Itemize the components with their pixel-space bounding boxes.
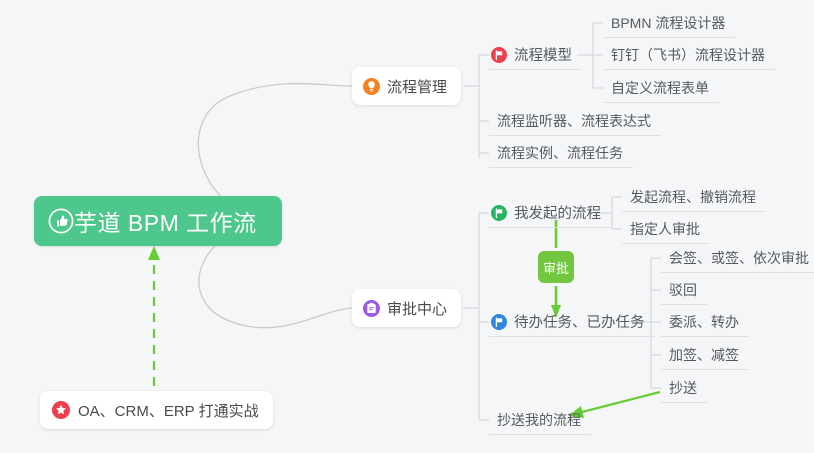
node-label: 待办任务、已办任务 bbox=[514, 311, 645, 332]
leaf-process-listener-expression[interactable]: 流程监听器、流程表达式 bbox=[489, 106, 661, 136]
leaf-dingtalk-feishu-designer[interactable]: 钉钉（飞书）流程设计器 bbox=[603, 40, 775, 70]
callout-label: OA、CRM、ERP 打通实战 bbox=[78, 400, 259, 421]
lightbulb-icon bbox=[363, 78, 380, 95]
leaf-label: 自定义流程表单 bbox=[611, 78, 709, 98]
leaf-label: 流程监听器、流程表达式 bbox=[497, 111, 651, 131]
leaf-assigned-approval[interactable]: 指定人审批 bbox=[622, 214, 710, 244]
branch-process-management[interactable]: 流程管理 bbox=[352, 67, 461, 105]
mindmap-canvas: 芋道 BPM 工作流 流程管理 流程模型 BPMN 流程设计器 钉钉（飞书）流程 bbox=[0, 0, 814, 453]
flag-icon bbox=[491, 205, 507, 221]
branch-approval-center[interactable]: 审批中心 bbox=[352, 289, 461, 327]
callout-integration-practice[interactable]: OA、CRM、ERP 打通实战 bbox=[40, 391, 273, 429]
approval-tag-label: 审批 bbox=[543, 258, 569, 277]
root-label: 芋道 BPM 工作流 bbox=[74, 204, 257, 238]
root-node[interactable]: 芋道 BPM 工作流 bbox=[34, 196, 282, 246]
leaf-label: BPMN 流程设计器 bbox=[611, 13, 725, 33]
leaf-label: 委派、转办 bbox=[669, 312, 739, 332]
leaf-label: 钉钉（飞书）流程设计器 bbox=[611, 45, 765, 65]
node-label: 流程模型 bbox=[514, 44, 572, 65]
thumbs-up-icon bbox=[48, 208, 74, 234]
leaf-add-remove-sign[interactable]: 加签、减签 bbox=[661, 340, 749, 370]
leaf-start-cancel-process[interactable]: 发起流程、撤销流程 bbox=[622, 182, 766, 212]
flag-icon bbox=[491, 314, 507, 330]
leaf-delegate-transfer[interactable]: 委派、转办 bbox=[661, 307, 749, 337]
node-todo-done-tasks[interactable]: 待办任务、已办任务 bbox=[489, 307, 655, 337]
star-badge-icon bbox=[52, 401, 70, 419]
leaf-label: 抄送 bbox=[669, 378, 697, 398]
approval-tag: 审批 bbox=[538, 251, 574, 283]
node-my-initiated-process[interactable]: 我发起的流程 bbox=[489, 198, 611, 228]
leaf-label: 驳回 bbox=[669, 280, 697, 300]
leaf-custom-process-form[interactable]: 自定义流程表单 bbox=[603, 73, 719, 103]
leaf-bpmn-designer[interactable]: BPMN 流程设计器 bbox=[603, 8, 735, 38]
branch-label: 审批中心 bbox=[387, 298, 447, 319]
leaf-label: 抄送我的流程 bbox=[497, 410, 581, 430]
leaf-label: 加签、减签 bbox=[669, 345, 739, 365]
leaf-label: 流程实例、流程任务 bbox=[497, 143, 623, 163]
leaf-label: 会签、或签、依次审批 bbox=[669, 248, 809, 268]
flag-icon bbox=[491, 47, 507, 63]
branch-label: 流程管理 bbox=[387, 76, 447, 97]
leaf-cc-to-me-process[interactable]: 抄送我的流程 bbox=[489, 405, 591, 435]
leaf-label: 发起流程、撤销流程 bbox=[630, 187, 756, 207]
leaf-cc[interactable]: 抄送 bbox=[661, 373, 707, 403]
leaf-reject[interactable]: 驳回 bbox=[661, 275, 707, 305]
leaf-countersign[interactable]: 会签、或签、依次审批 bbox=[661, 243, 814, 273]
leaf-label: 指定人审批 bbox=[630, 219, 700, 239]
node-label: 我发起的流程 bbox=[514, 202, 601, 223]
clipboard-icon bbox=[363, 300, 380, 317]
node-process-model[interactable]: 流程模型 bbox=[489, 40, 582, 70]
leaf-process-instance-task[interactable]: 流程实例、流程任务 bbox=[489, 138, 633, 168]
